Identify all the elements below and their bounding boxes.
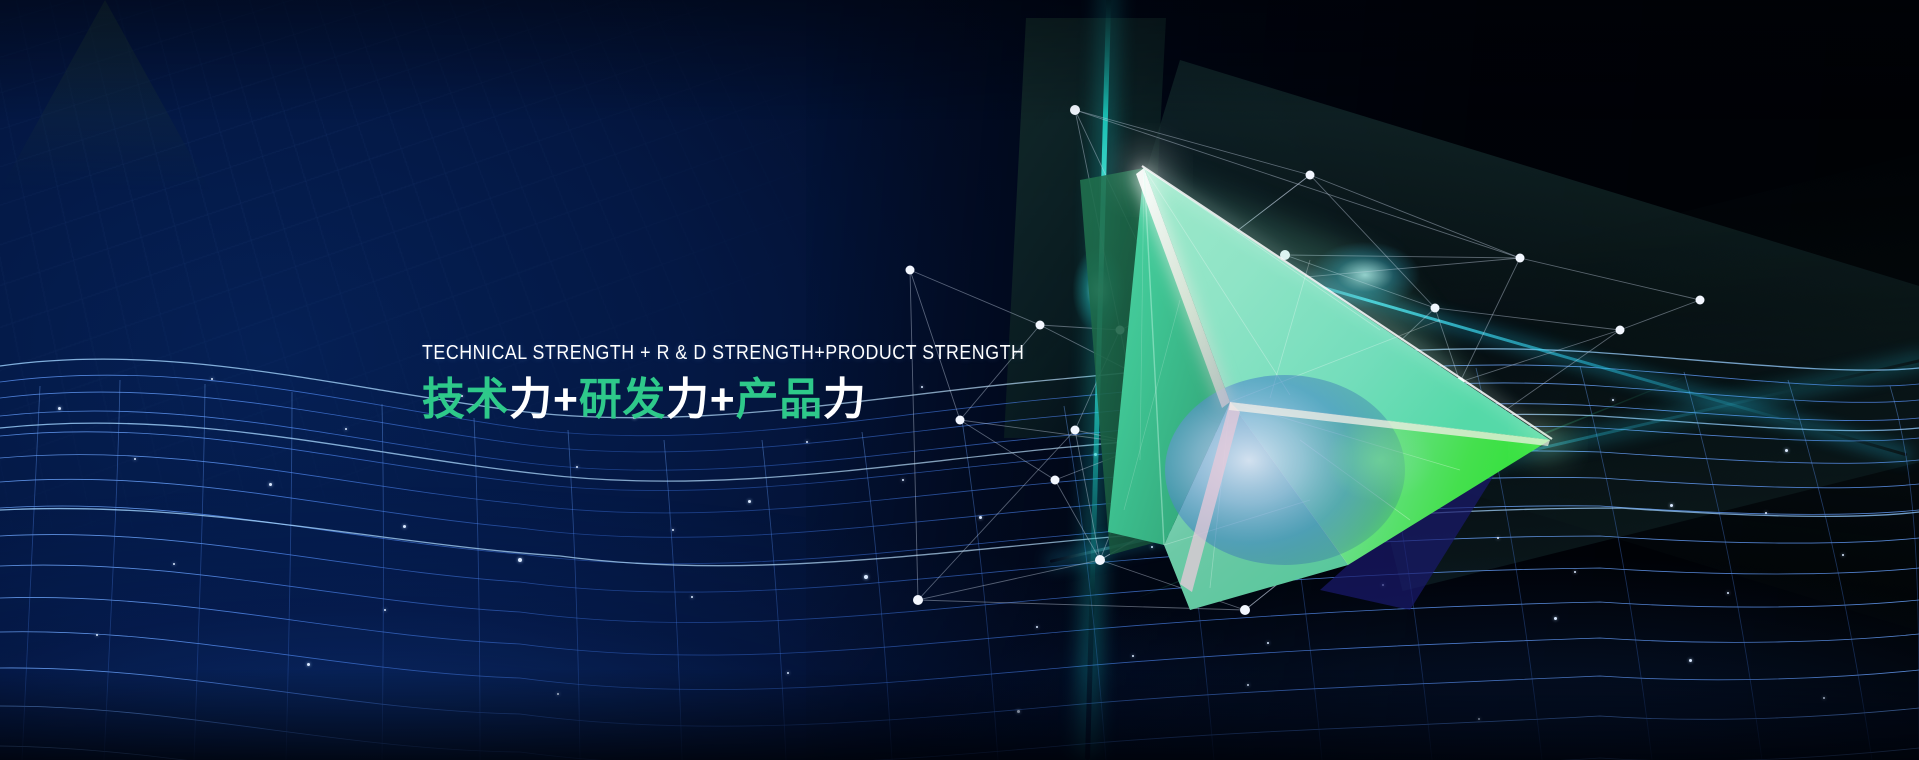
headline-cn-part-8: 力	[823, 375, 867, 424]
3d-play-arrow	[1080, 140, 1600, 610]
headline-english: TECHNICAL STRENGTH + R & D STRENGTH+PROD…	[422, 343, 956, 364]
headline-cn-part-3: +	[553, 375, 579, 424]
headline-cn-part-2: 力	[509, 375, 553, 424]
headline-cn-part-7: 产品	[736, 375, 823, 424]
headline-cn-part-6: +	[710, 375, 736, 424]
hero-banner: TECHNICAL STRENGTH + R & D STRENGTH+PROD…	[0, 0, 1919, 760]
headline-chinese: 技术力+研发力+产品力	[422, 378, 1004, 422]
headline-cn-part-4: 研发	[579, 375, 666, 424]
headline-cn-part-5: 力	[666, 375, 710, 424]
headline-cn-part-1: 技术	[422, 375, 509, 424]
arrow-svg	[1080, 140, 1600, 610]
headline-text-block: TECHNICAL STRENGTH + R & D STRENGTH+PROD…	[422, 343, 1022, 422]
